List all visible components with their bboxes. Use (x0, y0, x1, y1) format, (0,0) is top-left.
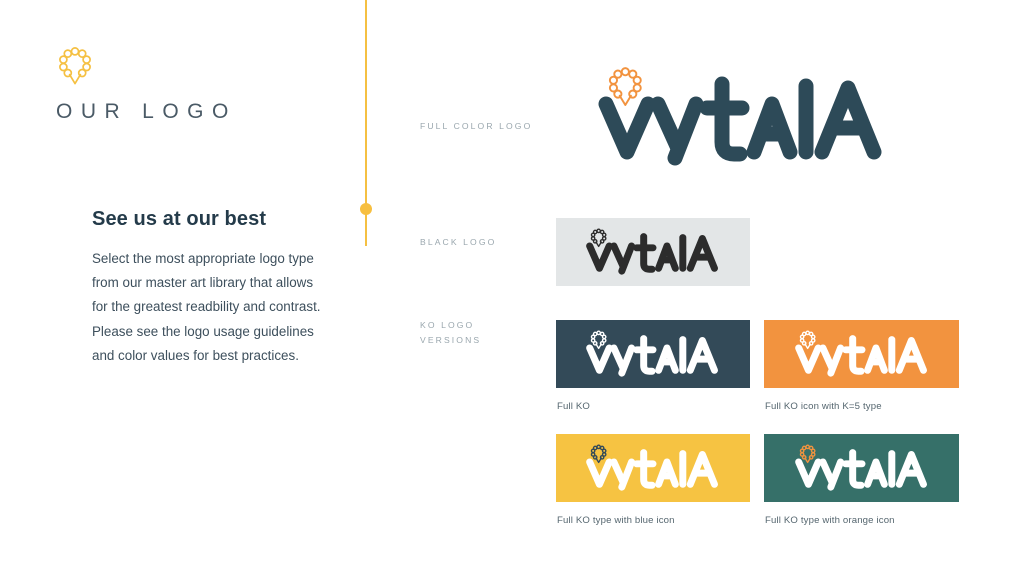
page-title-word-one: OUR (56, 100, 128, 123)
flower-pin-icon (58, 46, 92, 86)
label-ko-line-1: KO LOGO (420, 318, 540, 333)
swatch-ko-type-orange-icon[interactable] (764, 434, 959, 502)
swatch-full-ko[interactable] (556, 320, 750, 388)
swatch-full-ko-icon-k5[interactable] (764, 320, 959, 388)
label-ko-line-2: VERSIONS (420, 333, 540, 348)
logo-white-type-blue-icon (585, 444, 721, 492)
caption-ko-type-blue-icon: Full KO type with blue icon (557, 515, 675, 526)
logo-black (585, 228, 721, 276)
label-ko-logo-versions: KO LOGO VERSIONS (420, 318, 540, 348)
divider-dot (360, 203, 372, 215)
copy-body: Select the most appropriate logo type fr… (92, 247, 322, 368)
logo-ko-white-on-orange (794, 330, 930, 378)
swatch-black-logo[interactable] (556, 218, 750, 286)
caption-ko-type-orange-icon: Full KO type with orange icon (765, 515, 895, 526)
copy-heading: See us at our best (92, 208, 322, 231)
slide-canvas: OURLOGO See us at our best Select the mo… (0, 0, 1024, 576)
logo-white-type-orange-icon (794, 444, 930, 492)
copy-block: See us at our best Select the most appro… (92, 208, 322, 368)
logo-full-color (596, 66, 888, 168)
logo-ko-white (585, 330, 721, 378)
brand-block: OURLOGO (56, 46, 316, 124)
caption-full-ko-icon-k5: Full KO icon with K=5 type (765, 401, 882, 412)
label-black-logo: BLACK LOGO (420, 235, 496, 250)
page-title: OURLOGO (56, 100, 316, 124)
caption-full-ko: Full KO (557, 401, 590, 412)
label-full-color-logo: FULL COLOR LOGO (420, 119, 532, 134)
page-title-word-two: LOGO (142, 100, 237, 123)
swatch-ko-type-blue-icon[interactable] (556, 434, 750, 502)
